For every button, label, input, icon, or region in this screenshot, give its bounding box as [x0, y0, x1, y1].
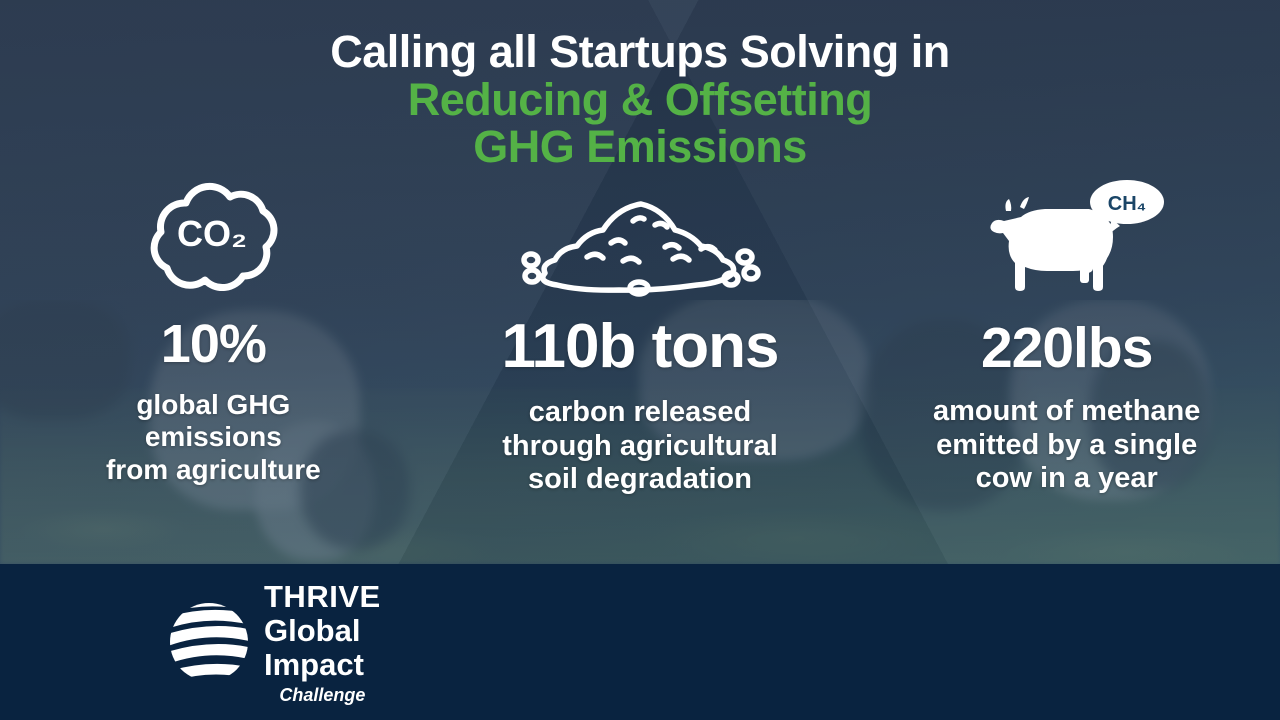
caption-line-3: from agriculture: [106, 454, 321, 485]
brand-line-impact: Impact: [264, 649, 381, 680]
brand-line-global: Global: [264, 615, 381, 646]
stat-block-co2: CO₂ 10% global GHG emissions from agricu…: [0, 182, 427, 552]
stat-block-soil: 110b tons carbon released through agricu…: [427, 182, 854, 552]
stat-value-cow: 220lbs: [981, 315, 1152, 381]
thrive-brand-text: THRIVE Global Impact Challenge: [264, 581, 381, 704]
caption-line-1: carbon released: [529, 396, 751, 428]
stat-value-co2: 10%: [161, 313, 266, 375]
caption-line-2: emissions: [145, 421, 282, 452]
caption-line-3: cow in a year: [976, 462, 1158, 494]
headline: Calling all Startups Solving in Reducing…: [0, 28, 1280, 171]
co2-cloud-icon: CO₂: [128, 182, 298, 297]
thrive-brand[interactable]: THRIVE Global Impact Challenge: [168, 581, 381, 704]
headline-line-1: Calling all Startups Solving in: [0, 28, 1280, 76]
brand-line-challenge: Challenge: [264, 686, 381, 704]
caption-line-2: emitted by a single: [936, 429, 1197, 461]
brand-line-thrive: THRIVE: [264, 581, 381, 612]
stat-caption-soil: carbon released through agricultural soi…: [502, 396, 778, 497]
caption-line-2: through agricultural: [502, 430, 778, 462]
soil-pile-icon: [515, 182, 765, 297]
caption-line-3: soil degradation: [528, 463, 752, 495]
thrive-globe-logo: [168, 599, 250, 685]
headline-line-3: GHG Emissions: [0, 123, 1280, 171]
stat-value-soil: 110b tons: [502, 311, 779, 382]
caption-line-1: global GHG: [136, 389, 290, 420]
headline-line-2: Reducing & Offsetting: [0, 76, 1280, 124]
cow-methane-icon: CH₄: [962, 182, 1172, 297]
stat-block-cow: CH₄ 220lbs amount of methane emitted by …: [853, 182, 1280, 552]
footer-bar: THRIVE Global Impact Challenge: [0, 564, 1280, 720]
stat-row: CO₂ 10% global GHG emissions from agricu…: [0, 182, 1280, 552]
infographic-poster: Calling all Startups Solving in Reducing…: [0, 0, 1280, 720]
caption-line-1: amount of methane: [933, 395, 1200, 427]
stat-caption-cow: amount of methane emitted by a single co…: [933, 395, 1200, 496]
co2-icon-label: CO₂: [177, 213, 247, 254]
stat-caption-co2: global GHG emissions from agriculture: [106, 389, 321, 486]
ch4-icon-label: CH₄: [1107, 193, 1145, 215]
